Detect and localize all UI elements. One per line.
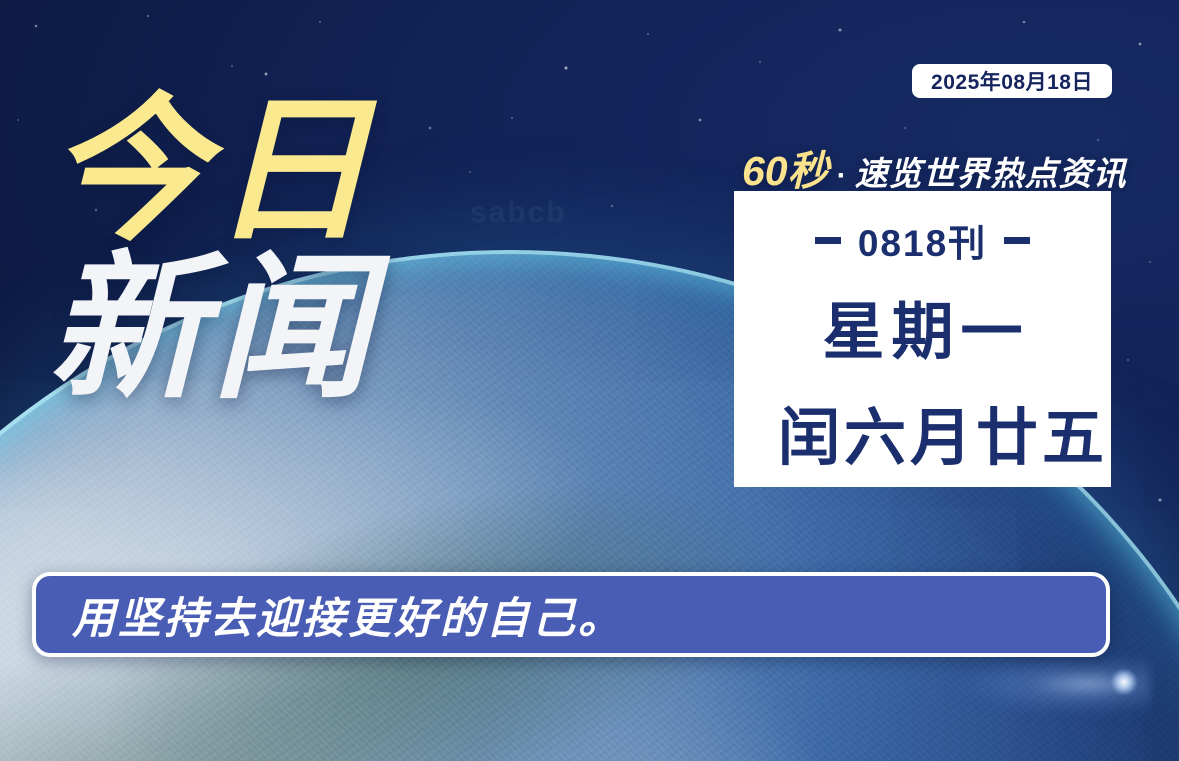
issue-row: 0818刊 bbox=[815, 213, 1030, 267]
info-card: 0818刊 星期一 闰六月廿五 bbox=[734, 191, 1111, 487]
date-badge: 2025年08月18日 bbox=[912, 64, 1112, 98]
tagline-text: 速览世界热点资讯 bbox=[855, 147, 1127, 195]
poster-title: 今日 新闻 bbox=[48, 96, 376, 405]
weekday-label: 星期一 bbox=[815, 281, 1029, 371]
tagline-duration: 60秒 bbox=[742, 137, 829, 197]
news-poster: sabcb 今日 新闻 2025年08月18日 60秒 · 速览世界热点资讯 0… bbox=[0, 0, 1179, 761]
bright-star-icon bbox=[1111, 669, 1137, 695]
tagline-separator-icon: · bbox=[835, 159, 849, 193]
lunar-date-label: 闰六月廿五 bbox=[778, 387, 1108, 477]
watermark: sabcb bbox=[470, 196, 567, 230]
tagline: 60秒 · 速览世界热点资讯 bbox=[742, 137, 1127, 197]
title-line-today: 今日 bbox=[48, 96, 376, 248]
quote-text: 用坚持去迎接更好的自己。 bbox=[72, 584, 624, 646]
quote-banner: 用坚持去迎接更好的自己。 bbox=[32, 572, 1110, 657]
issue-label: 0818刊 bbox=[858, 213, 987, 267]
dash-right-icon bbox=[1004, 237, 1030, 244]
dash-left-icon bbox=[815, 237, 841, 244]
title-line-news: 新闻 bbox=[48, 254, 376, 406]
